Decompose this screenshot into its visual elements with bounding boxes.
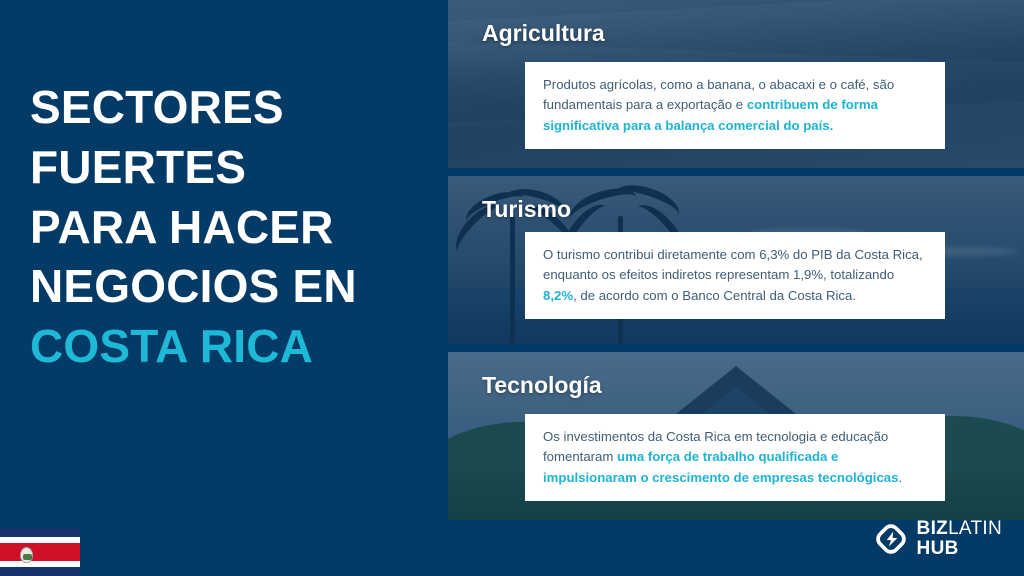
brand-biz: BIZ xyxy=(917,518,949,539)
sector-card-turismo: Turismo O turismo contribui diretamente … xyxy=(448,176,1024,344)
card-heading: Tecnología xyxy=(482,372,602,399)
sector-card-stack: Agricultura Produtos agrícolas, como a b… xyxy=(448,0,1024,576)
brand-hub: HUB xyxy=(917,539,1002,558)
brand-logo-text: BIZLATIN HUB xyxy=(917,519,1002,558)
card-heading: Agricultura xyxy=(482,20,605,47)
title-line-4: NEGOCIOS EN xyxy=(30,257,430,317)
page-title: SECTORES FUERTES PARA HACER NEGOCIOS EN … xyxy=(30,78,430,377)
title-line-1: SECTORES xyxy=(30,78,430,138)
title-line-3: PARA HACER xyxy=(30,198,430,258)
title-line-5-country: COSTA RICA xyxy=(30,317,430,377)
card-body-plain-tail: . xyxy=(898,470,902,485)
brand-logo: BIZLATIN HUB xyxy=(874,519,1002,558)
costa-rica-flag-icon xyxy=(0,528,80,576)
card-text-box: O turismo contribui diretamente com 6,3%… xyxy=(525,232,945,319)
brand-latin: LATIN xyxy=(948,518,1002,539)
card-body-highlight: 8,2% xyxy=(543,288,573,303)
flag-band-blue-top xyxy=(0,528,80,537)
card-body-plain-tail: , de acordo com o Banco Central da Costa… xyxy=(573,288,856,303)
flag-coat-of-arms-icon xyxy=(20,547,33,563)
left-title-panel: SECTORES FUERTES PARA HACER NEGOCIOS EN … xyxy=(0,0,448,576)
card-text-box: Produtos agrícolas, como a banana, o aba… xyxy=(525,62,945,149)
title-line-2: FUERTES xyxy=(30,138,430,198)
biz-latin-hub-logo-icon xyxy=(874,522,908,556)
card-text-box: Os investimentos da Costa Rica em tecnol… xyxy=(525,414,945,501)
card-body-plain: O turismo contribui diretamente com 6,3%… xyxy=(543,247,923,282)
flag-band-blue-bottom xyxy=(0,567,80,576)
card-heading: Turismo xyxy=(482,196,571,223)
sector-card-tecnologia: Tecnología Os investimentos da Costa Ric… xyxy=(448,352,1024,520)
flag-band-red xyxy=(0,543,80,561)
sector-card-agricultura: Agricultura Produtos agrícolas, como a b… xyxy=(448,0,1024,168)
